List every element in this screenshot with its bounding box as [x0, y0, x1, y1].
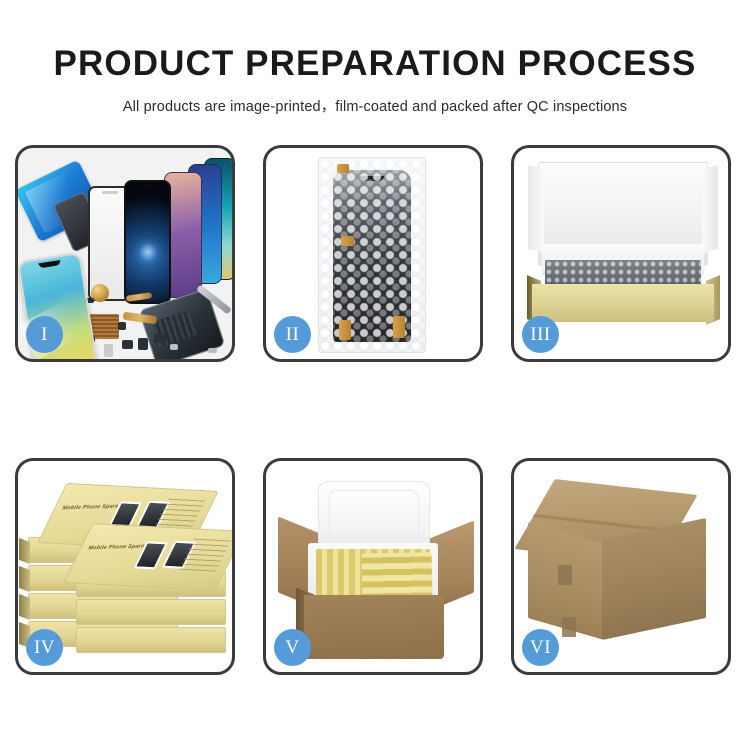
step-badge-3: III	[522, 316, 559, 353]
printed-lid-lower: Mobile Phone Spare Parts	[63, 523, 235, 591]
process-step-4[interactable]: Mobile Phone Spare Parts Mobile Phone Sp…	[15, 458, 235, 675]
process-step-1[interactable]: I	[15, 145, 235, 362]
stacked-box-6	[76, 599, 226, 625]
tape-strip-mid	[341, 236, 354, 246]
carton-side-right	[602, 518, 706, 640]
process-step-2[interactable]: II	[263, 145, 483, 362]
carton-front-face	[304, 595, 444, 659]
bubble-texture	[319, 158, 425, 352]
step-badge-1: I	[26, 316, 63, 353]
process-step-3[interactable]: III	[511, 145, 731, 362]
process-grid: I II	[15, 145, 735, 675]
header: PRODUCT PREPARATION PROCESS All products…	[0, 0, 750, 116]
small-part-e	[138, 338, 148, 350]
process-step-6[interactable]: VI	[511, 458, 731, 675]
small-part-g	[118, 322, 126, 330]
small-part-i	[208, 348, 217, 353]
inner-box-front-face	[532, 284, 714, 322]
process-step-5[interactable]: V	[263, 458, 483, 675]
tape-strip-br	[393, 316, 405, 338]
phone-dark-wallpaper	[124, 180, 171, 304]
carton-tab-upper	[558, 565, 572, 585]
step-badge-2: II	[274, 316, 311, 353]
stacked-box-7	[76, 627, 226, 653]
page-title: PRODUCT PREPARATION PROCESS	[0, 44, 750, 84]
step-badge-5: V	[274, 629, 311, 666]
tape-strip-top	[337, 164, 349, 173]
small-part-d	[122, 340, 133, 349]
small-part-h	[170, 344, 178, 350]
small-part-c	[104, 344, 113, 357]
small-part-f	[154, 334, 166, 343]
step-badge-4: IV	[26, 629, 63, 666]
step-badge-6: VI	[522, 629, 559, 666]
carton-tab-lower	[562, 617, 576, 637]
tape-strip-bl	[339, 320, 351, 340]
infographic-page: PRODUCT PREPARATION PROCESS All products…	[0, 0, 750, 750]
page-subtitle: All products are image-printed，film-coat…	[0, 95, 750, 116]
packed-yellow-boxes-row2	[362, 552, 433, 599]
bubble-wrap-bag	[318, 157, 426, 353]
bubble-wrapped-content	[545, 260, 701, 286]
